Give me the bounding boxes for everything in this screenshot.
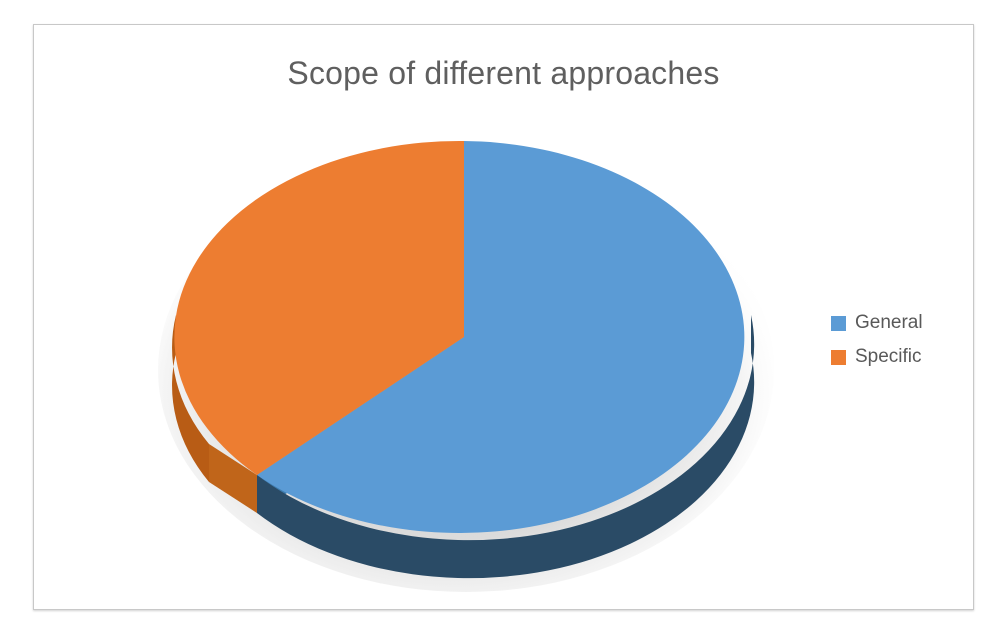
legend-item-general[interactable]: General (821, 306, 941, 340)
chart-frame[interactable]: Scope of different approaches (33, 24, 974, 610)
pie-chart-3d[interactable] (94, 100, 824, 600)
legend-swatch-general-icon (831, 316, 846, 331)
legend-item-specific[interactable]: Specific (821, 340, 941, 374)
legend-swatch-specific-icon (831, 350, 846, 365)
plot-area[interactable]: General Specific (34, 25, 975, 611)
legend-label-specific: Specific (855, 346, 922, 368)
chart-legend[interactable]: General Specific (821, 302, 941, 378)
legend-label-general: General (855, 312, 923, 334)
